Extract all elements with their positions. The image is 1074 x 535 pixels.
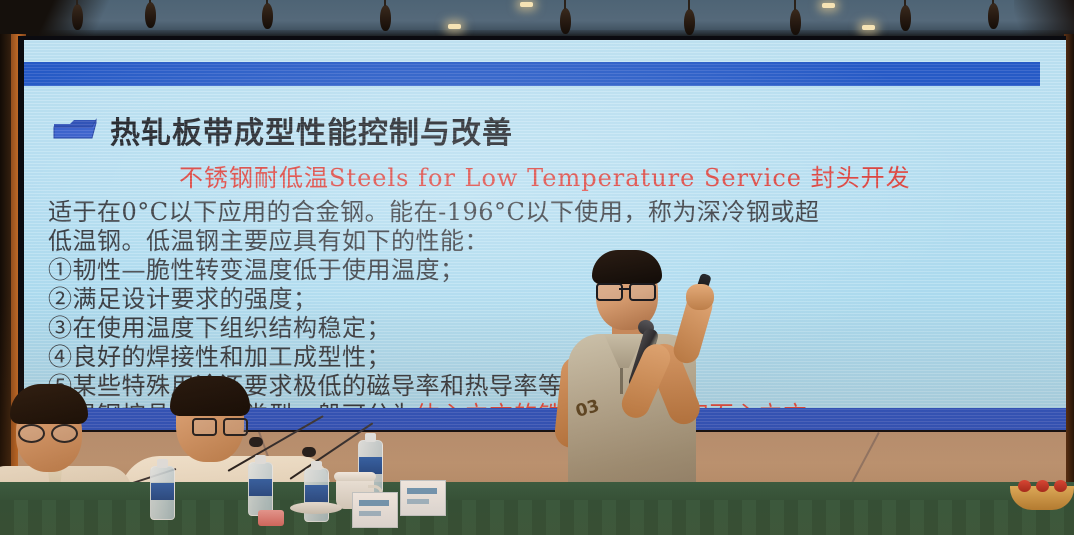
pendant-lamp-icon (988, 3, 999, 29)
fruit-berry (1036, 480, 1049, 492)
name-card (400, 480, 446, 516)
ceiling-spotlight-icon (448, 24, 461, 29)
glasses-left-lens (596, 283, 623, 301)
attendee-center-hair (170, 376, 250, 416)
name-card-bar (407, 499, 429, 504)
bottle-label (249, 479, 272, 496)
presenter-glasses (596, 283, 654, 297)
slide-top-bar (24, 62, 1040, 86)
attendee-center-glasses (192, 418, 244, 432)
pendant-lamp-icon (900, 5, 911, 31)
napkin (258, 510, 284, 526)
pendant-lamp-icon (684, 9, 695, 35)
attendee-left-glasses (18, 424, 76, 439)
cup-lid (334, 472, 376, 481)
fruit-berry (1018, 480, 1031, 492)
water-bottle (248, 462, 273, 516)
glasses-right-lens (51, 424, 78, 443)
slide-title: 热轧板带成型性能控制与改善 (110, 108, 513, 152)
pendant-lamp-icon (560, 8, 571, 34)
fruit-berry (1054, 480, 1067, 492)
presenter-hair (592, 250, 662, 284)
glasses-left-lens (192, 418, 217, 436)
name-card-bar (359, 511, 381, 516)
slide-subtitle: 不锈钢耐低温Steels for Low Temperature Service… (179, 158, 911, 193)
folder-icon (52, 118, 98, 144)
bottle-label (151, 483, 174, 500)
name-card-bar (359, 500, 389, 506)
glasses-right-lens (223, 418, 248, 436)
pendant-lamp-icon (262, 3, 273, 29)
attendee-left-hair (10, 384, 88, 424)
bottle-label (305, 485, 328, 502)
slide-body-line: 适于在0°C以下应用的合金钢。能在-196°C以下使用，称为深冷钢或超 (48, 198, 1058, 227)
presenter-raised-hand (686, 284, 714, 310)
pendant-lamp-icon (380, 5, 391, 31)
pendant-lamp-icon (72, 4, 83, 30)
table-microphone-head-icon (249, 437, 263, 447)
pendant-lamp-icon (790, 9, 801, 35)
table-microphone-head-icon (302, 447, 316, 457)
small-plate (290, 502, 342, 514)
pendant-lamp-icon (145, 2, 156, 28)
ceiling-spotlight-icon (520, 2, 533, 7)
name-card-bar (407, 488, 437, 494)
name-card (352, 492, 398, 528)
glasses-right-lens (629, 283, 656, 301)
presentation-photo-scene: 热轧板带成型性能控制与改善 不锈钢耐低温Steels for Low Tempe… (0, 0, 1074, 535)
ceiling-spotlight-icon (822, 3, 835, 8)
water-bottle (150, 466, 175, 520)
glasses-bridge (619, 288, 629, 290)
ceiling-spotlight-icon (862, 25, 875, 30)
glasses-left-lens (18, 424, 45, 443)
